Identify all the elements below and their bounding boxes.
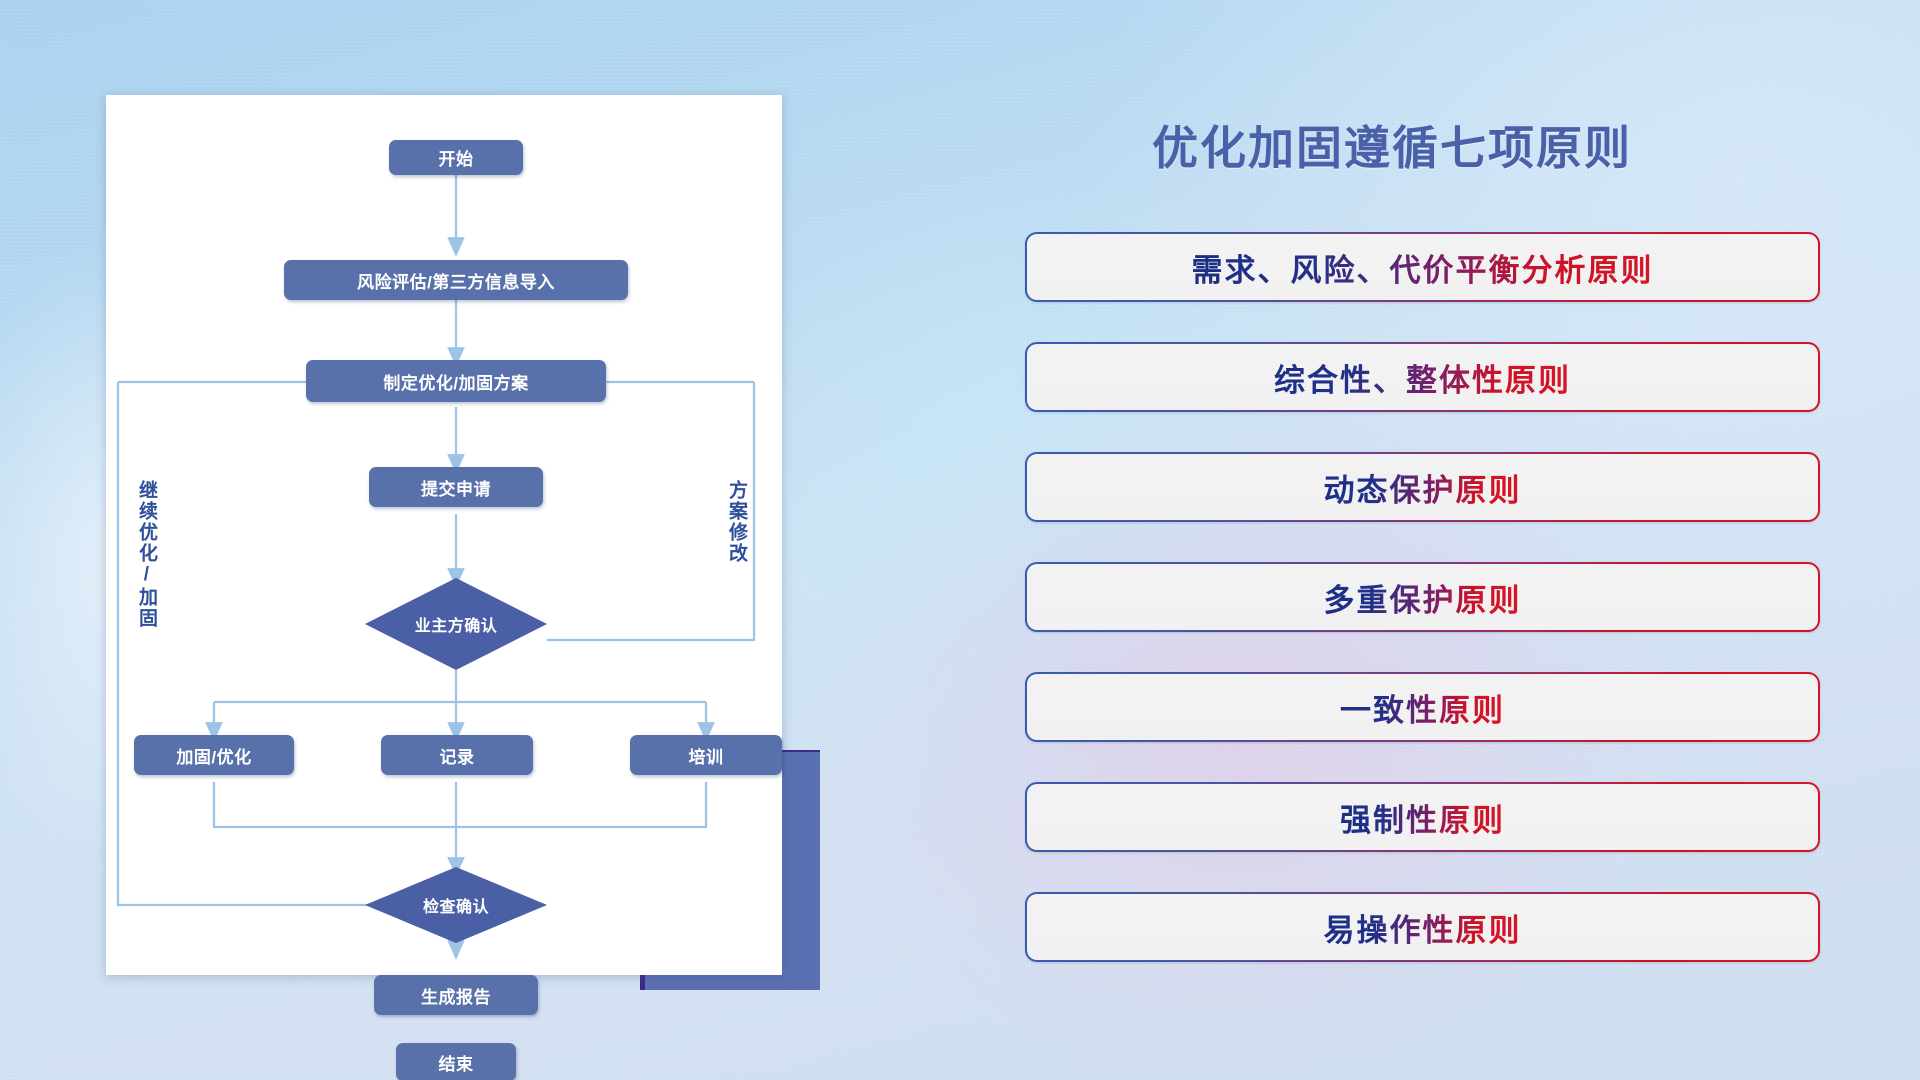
- flow-node-owner-confirm[interactable]: 业主方确认: [365, 578, 547, 670]
- flow-node-inspection-confirm[interactable]: 检查确认: [365, 867, 547, 943]
- principle-item-label: 综合性、整体性原则: [1274, 355, 1571, 400]
- principle-item-label: 易操作性原则: [1324, 905, 1522, 950]
- principle-item-6[interactable]: 强制性原则: [1025, 782, 1820, 852]
- principle-list: 需求、风险、代价平衡分析原则 综合性、整体性原则 动态保护原则 多重保护原则 一…: [1025, 232, 1820, 962]
- flow-node-generate-report[interactable]: 生成报告: [374, 975, 538, 1015]
- principle-item-4[interactable]: 多重保护原则: [1025, 562, 1820, 632]
- page-title: 优化加固遵循七项原则: [1152, 112, 1632, 178]
- flow-node-start[interactable]: 开始: [389, 140, 523, 175]
- principle-item-label: 一致性原则: [1340, 685, 1505, 730]
- flow-node-reinforce[interactable]: 加固/优化: [134, 735, 294, 775]
- flow-node-record[interactable]: 记录: [381, 735, 533, 775]
- principle-item-3[interactable]: 动态保护原则: [1025, 452, 1820, 522]
- principle-item-7[interactable]: 易操作性原则: [1025, 892, 1820, 962]
- flow-edge-label-continue-optimize: 继续优化/加固: [136, 480, 156, 629]
- principle-item-1[interactable]: 需求、风险、代价平衡分析原则: [1025, 232, 1820, 302]
- principle-item-label: 动态保护原则: [1324, 465, 1522, 510]
- flow-node-training[interactable]: 培训: [630, 735, 782, 775]
- principle-item-5[interactable]: 一致性原则: [1025, 672, 1820, 742]
- principle-item-label: 强制性原则: [1340, 795, 1505, 840]
- flow-edge-label-plan-revision: 方案修改: [726, 480, 746, 564]
- diamond-shape: [365, 578, 547, 670]
- diamond-shape: [365, 867, 547, 943]
- flow-node-plan[interactable]: 制定优化/加固方案: [306, 360, 606, 402]
- principle-item-label: 需求、风险、代价平衡分析原则: [1192, 245, 1654, 290]
- flowchart-card: 开始 风险评估/第三方信息导入 制定优化/加固方案 提交申请 业主方确认 加固/…: [106, 95, 782, 975]
- flowchart: 开始 风险评估/第三方信息导入 制定优化/加固方案 提交申请 业主方确认 加固/…: [106, 95, 782, 975]
- flowchart-connectors: [106, 95, 782, 975]
- principle-item-2[interactable]: 综合性、整体性原则: [1025, 342, 1820, 412]
- flow-node-risk-assessment[interactable]: 风险评估/第三方信息导入: [284, 260, 628, 300]
- flow-node-submit-application[interactable]: 提交申请: [369, 467, 543, 507]
- principle-item-label: 多重保护原则: [1324, 575, 1522, 620]
- flow-node-end[interactable]: 结束: [396, 1043, 516, 1080]
